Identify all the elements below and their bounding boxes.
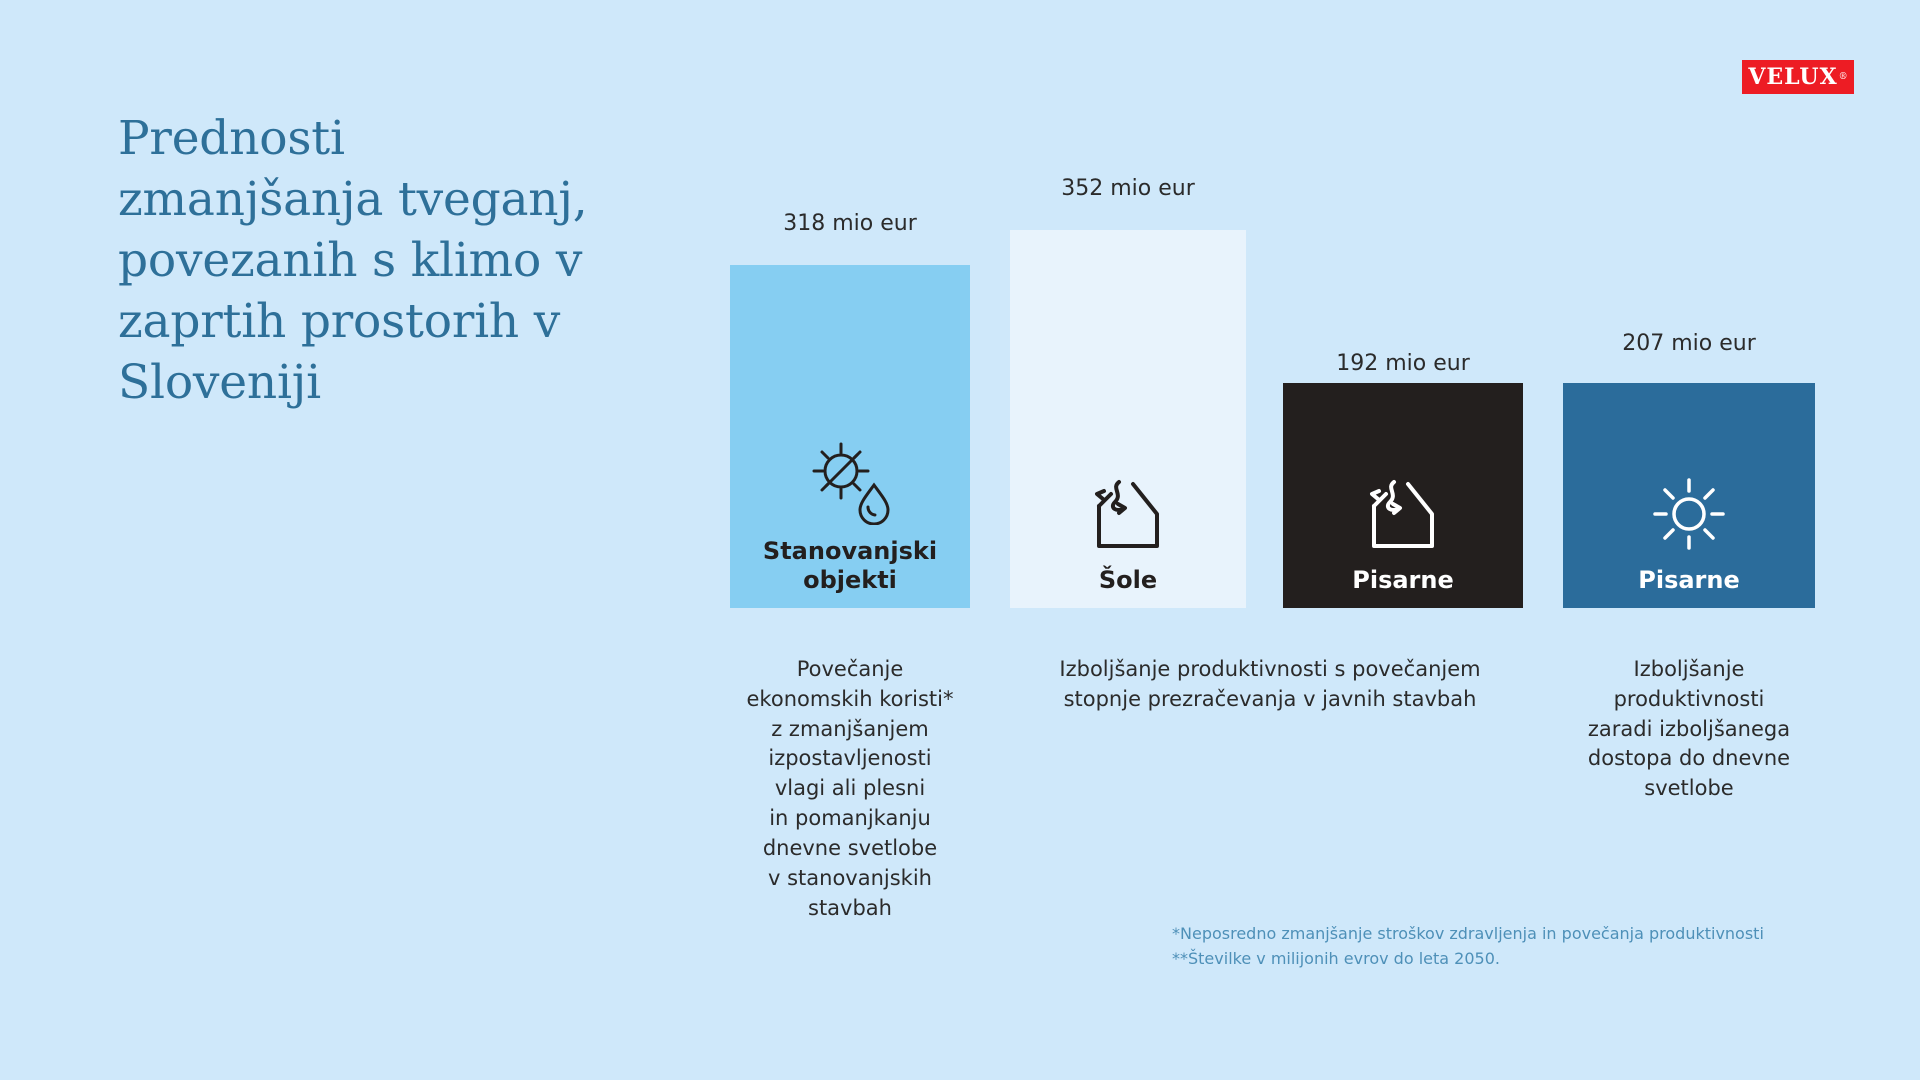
bar-label-2: Šole [1093, 566, 1163, 608]
footnote-line-2: **Številke v milijonih evrov do leta 205… [1172, 947, 1872, 972]
bar-label-3: Pisarne [1346, 566, 1460, 608]
footnotes: *Neposredno zmanjšanje stroškov zdravlje… [1172, 922, 1872, 972]
bar-value-label-3: 192 mio eur [1336, 353, 1470, 375]
bar-2[interactable]: Šole [1010, 230, 1246, 608]
bar-label-1: Stanovanjski objekti [730, 537, 970, 608]
bar-caption-1: Povečanje ekonomskih koristi* z zmanjšan… [710, 655, 990, 923]
sun-icon [1649, 474, 1729, 558]
footnote-line-1: *Neposredno zmanjšanje stroškov zdravlje… [1172, 922, 1872, 947]
bar-caption-4: Izboljšanje produktivnosti zaradi izbolj… [1549, 655, 1829, 804]
bar-4[interactable]: Pisarne [1563, 383, 1815, 608]
house-ventilation-icon [1089, 472, 1167, 558]
bar-value-label-4: 207 mio eur [1622, 333, 1756, 355]
bar-value-label-1: 318 mio eur [783, 213, 917, 235]
bar-chart: 318 mio eur Stanovanjski [0, 0, 1920, 1080]
bar-group-4: 207 mio eur Pisarne Izboljšanje produkti… [1563, 0, 1815, 1080]
house-ventilation-icon [1364, 472, 1442, 558]
bar-group-3: 192 mio eur Pisarne [1283, 0, 1523, 1080]
bar-value-label-2: 352 mio eur [1061, 178, 1195, 200]
no-sun-moisture-icon [804, 439, 896, 529]
bar-group-2: 352 mio eur Šole Izboljšanje produktivno… [1010, 0, 1246, 1080]
bar-3[interactable]: Pisarne [1283, 383, 1523, 608]
bar-1[interactable]: Stanovanjski objekti [730, 265, 970, 608]
bar-group-1: 318 mio eur Stanovanjski [730, 0, 970, 1080]
bar-label-4: Pisarne [1632, 566, 1746, 608]
